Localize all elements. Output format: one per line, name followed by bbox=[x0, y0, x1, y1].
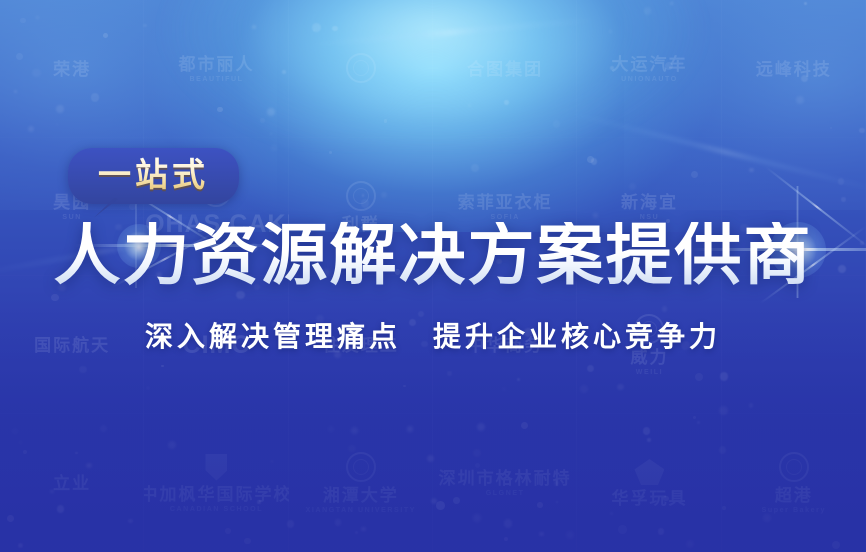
hero-banner: 荣港都市丽人BEAUTIFUL合图集团大运汽车UNIONAUTO远峰科技昊园SU… bbox=[0, 0, 866, 552]
badge-bubble: 一站式 bbox=[68, 148, 239, 204]
page-title: 人力资源解决方案提供商 bbox=[0, 222, 866, 289]
banner-content: 一站式 人力资源解决方案提供商 深入解决管理痛点 提升企业核心竞争力 bbox=[0, 0, 866, 552]
badge-tail bbox=[94, 198, 118, 218]
one-stop-badge: 一站式 bbox=[68, 148, 239, 204]
badge-label: 一站式 bbox=[98, 155, 209, 194]
page-subtitle: 深入解决管理痛点 提升企业核心竞争力 bbox=[0, 315, 866, 355]
